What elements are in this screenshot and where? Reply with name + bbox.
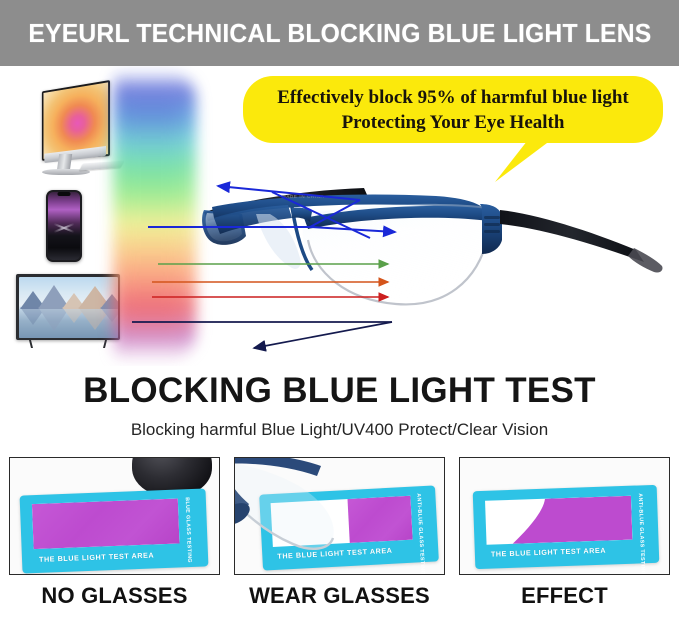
section-heading-block: BLOCKING BLUE LIGHT TEST Blocking harmfu…	[0, 366, 679, 458]
ray-blue-reflected-lower	[132, 322, 392, 348]
hero-section: MADE IN CHINA	[0, 66, 679, 366]
panel-wear-glasses: THE BLUE LIGHT TEST AREA ANTI-BLUE GLASS…	[234, 457, 445, 609]
tv-frame	[16, 274, 120, 340]
bubble-line-1: Effectively block 95% of harmful blue li…	[277, 85, 628, 110]
device-group	[14, 78, 122, 363]
panel-caption-wear-glasses: WEAR GLASSES	[234, 583, 445, 609]
header-banner: EYEURL TECHNICAL BLOCKING BLUE LIGHT LEN…	[0, 0, 679, 66]
panel-no-glasses: THE BLUE LIGHT TEST AREA BLUE GLASS TEST…	[9, 457, 220, 609]
glasses-overlay-icon	[234, 457, 379, 562]
card-label: THE BLUE LIGHT TEST AREA	[491, 546, 606, 559]
light-ray-arrows	[120, 152, 560, 352]
section-subtitle: Blocking harmful Blue Light/UV400 Protec…	[0, 411, 679, 440]
section-title: BLOCKING BLUE LIGHT TEST	[0, 366, 679, 411]
phone-wallpaper-glyph	[53, 219, 75, 235]
card-label-vertical: BLUE GLASS TESTING	[184, 497, 193, 563]
television-icon	[16, 274, 120, 352]
card-label-vertical: ANTI-BLUE GLASS TESTING	[415, 493, 425, 575]
phone-notch	[58, 192, 71, 196]
test-area-fill	[485, 496, 632, 545]
tv-mountains	[19, 287, 118, 309]
speech-bubble: Effectively block 95% of harmful blue li…	[243, 76, 663, 143]
tv-water	[19, 309, 118, 337]
ray-blue-reflected-upper	[148, 186, 395, 238]
panel-caption-no-glasses: NO GLASSES	[9, 583, 220, 609]
test-panel-group: THE BLUE LIGHT TEST AREA BLUE GLASS TEST…	[0, 457, 679, 635]
panel-caption-effect: EFFECT	[459, 583, 670, 609]
panel-photo-no-glasses: THE BLUE LIGHT TEST AREA BLUE GLASS TEST…	[9, 457, 220, 575]
smartphone-icon	[46, 190, 82, 262]
phone-screen	[48, 192, 80, 260]
product-infographic: EYEURL TECHNICAL BLOCKING BLUE LIGHT LEN…	[0, 0, 679, 635]
tv-screen	[19, 277, 118, 338]
test-card-no-glasses: THE BLUE LIGHT TEST AREA BLUE GLASS TEST…	[20, 488, 209, 573]
bubble-line-2: Protecting Your Eye Health	[342, 110, 565, 135]
tv-leg-right	[103, 340, 107, 348]
tv-leg-left	[29, 340, 33, 348]
panel-effect: THE BLUE LIGHT TEST AREA ANTI-BLUE GLASS…	[459, 457, 670, 609]
card-label: THE BLUE LIGHT TEST AREA	[39, 550, 154, 563]
card-label-vertical: ANTI-BLUE GLASS TESTING	[637, 493, 646, 575]
panel-photo-wear-glasses: THE BLUE LIGHT TEST AREA ANTI-BLUE GLASS…	[234, 457, 445, 575]
tv-reflection	[19, 309, 118, 337]
test-card-effect: THE BLUE LIGHT TEST AREA ANTI-BLUE GLASS…	[473, 485, 660, 569]
page-title: EYEURL TECHNICAL BLOCKING BLUE LIGHT LEN…	[28, 18, 651, 49]
test-area-fill	[32, 499, 180, 550]
desktop-monitor-icon	[22, 80, 114, 180]
panel-photo-effect: THE BLUE LIGHT TEST AREA ANTI-BLUE GLASS…	[459, 457, 670, 575]
